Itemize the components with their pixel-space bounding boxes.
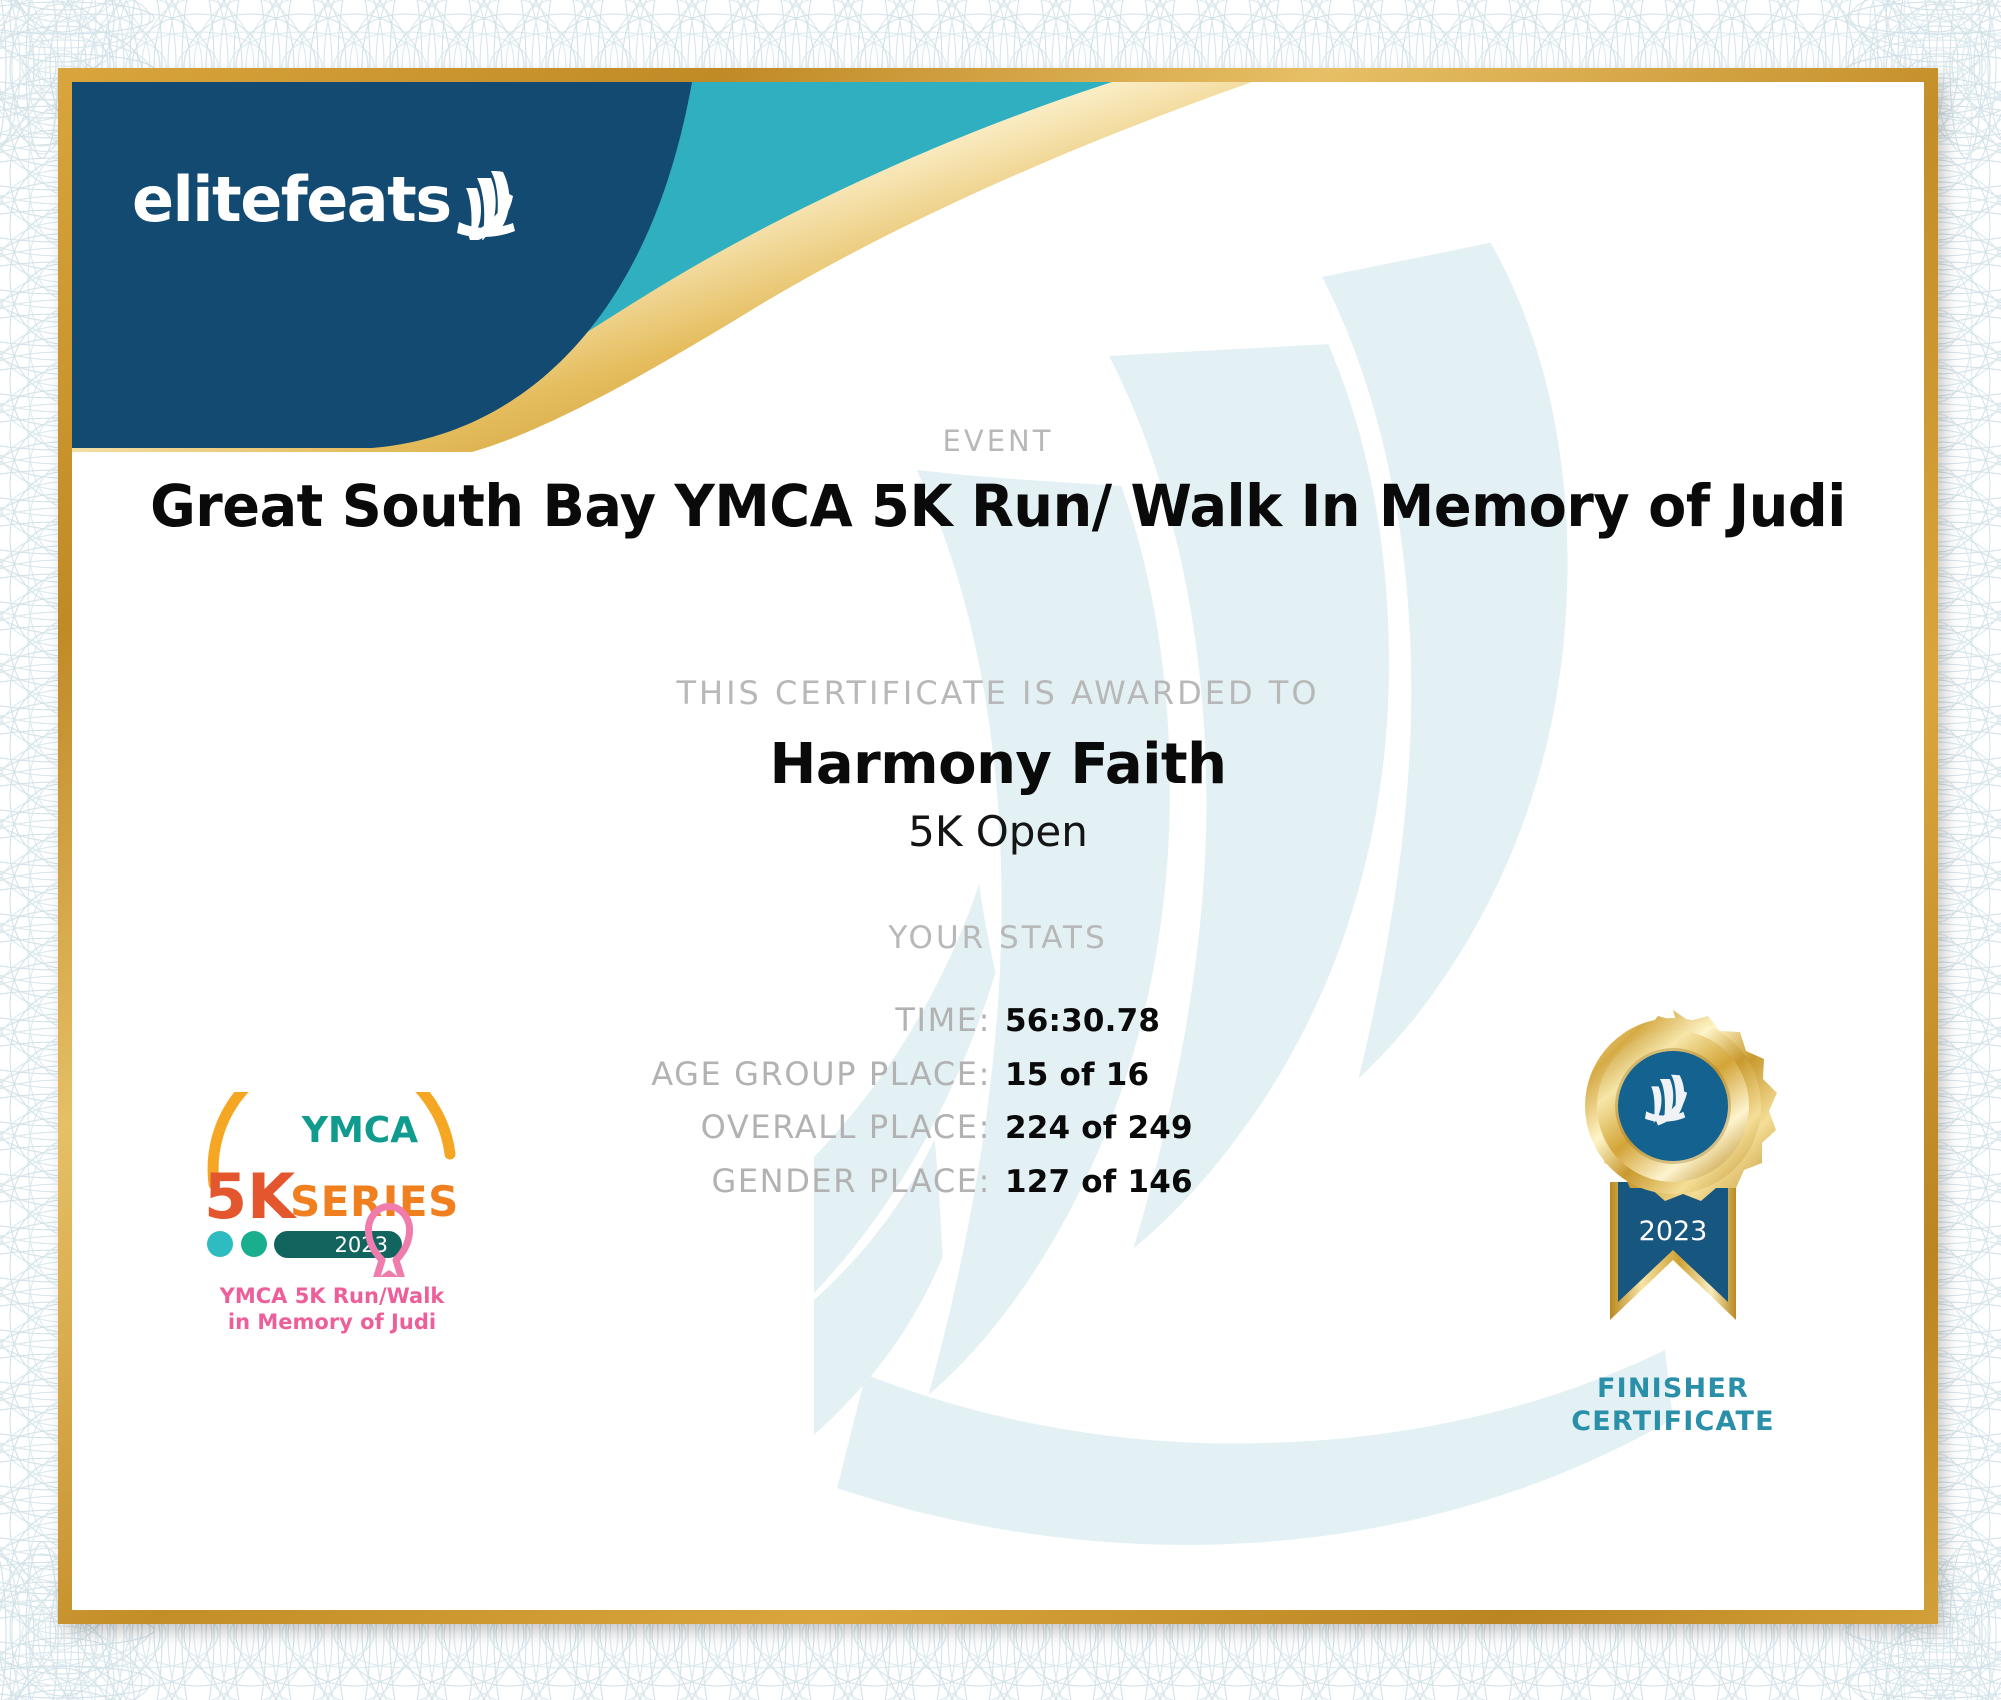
stat-label-gender-place: GENDER PLACE: [501,1161,991,1202]
certificate-frame: elitefeats EVENT Great South Bay YMCA 5K… [58,68,1938,1624]
gold-medal-badge-icon: 2023 [1548,1002,1798,1362]
brand-name: elitefeats [132,169,451,231]
awardee-name: Harmony Faith [72,732,1924,797]
certificate-body: elitefeats EVENT Great South Bay YMCA 5K… [72,82,1924,1610]
five-k-wordmark: 5K [204,1160,297,1233]
event-title: Great South Bay YMCA 5K Run/ Walk In Mem… [109,472,1887,540]
finisher-medal: 2023 [1548,1002,1798,1439]
medal-caption: FINISHER CERTIFICATE [1548,1373,1798,1439]
awarded-to-label: THIS CERTIFICATE IS AWARDED TO [72,674,1924,712]
stat-value-overall-place: 224 of 249 [991,1109,1495,1149]
teal-dot-icon [207,1231,233,1257]
winged-foot-icon [453,170,525,240]
event-label: EVENT [72,424,1924,458]
stat-label-time: TIME: [501,1000,991,1041]
ymca-caption-line2: in Memory of Judi [182,1310,482,1336]
stat-label-age-group-place: AGE GROUP PLACE: [501,1054,991,1095]
medal-ribbon-year: 2023 [1639,1216,1708,1247]
teal-dot-icon-2 [241,1231,267,1257]
stat-value-age-group-place: 15 of 16 [991,1056,1495,1096]
certificate-page: elitefeats EVENT Great South Bay YMCA 5K… [0,0,2001,1700]
your-stats-label: YOUR STATS [72,920,1924,956]
medal-caption-line1: FINISHER [1548,1373,1798,1406]
elitefeats-logo: elitefeats [132,160,525,240]
ymca-logo-graphic: YMCA 5K SERIES 2023 [182,1092,482,1277]
medal-caption-line2: CERTIFICATE [1548,1406,1798,1439]
ymca-caption-line1: YMCA 5K Run/Walk [182,1284,482,1310]
stat-value-gender-place: 127 of 146 [991,1163,1495,1203]
certificate-content: EVENT Great South Bay YMCA 5K Run/ Walk … [72,82,1924,1610]
medal-disc [1585,1010,1777,1201]
ymca-caption: YMCA 5K Run/Walk in Memory of Judi [182,1284,482,1335]
awardee-division: 5K Open [72,807,1924,856]
ymca-5k-series-logo: YMCA 5K SERIES 2023 [182,1092,482,1335]
stat-label-overall-place: OVERALL PLACE: [501,1107,991,1148]
ymca-wordmark: YMCA [301,1110,418,1151]
medal-ribbon: 2023 [1610,1182,1736,1320]
stat-value-time: 56:30.78 [991,1002,1495,1042]
